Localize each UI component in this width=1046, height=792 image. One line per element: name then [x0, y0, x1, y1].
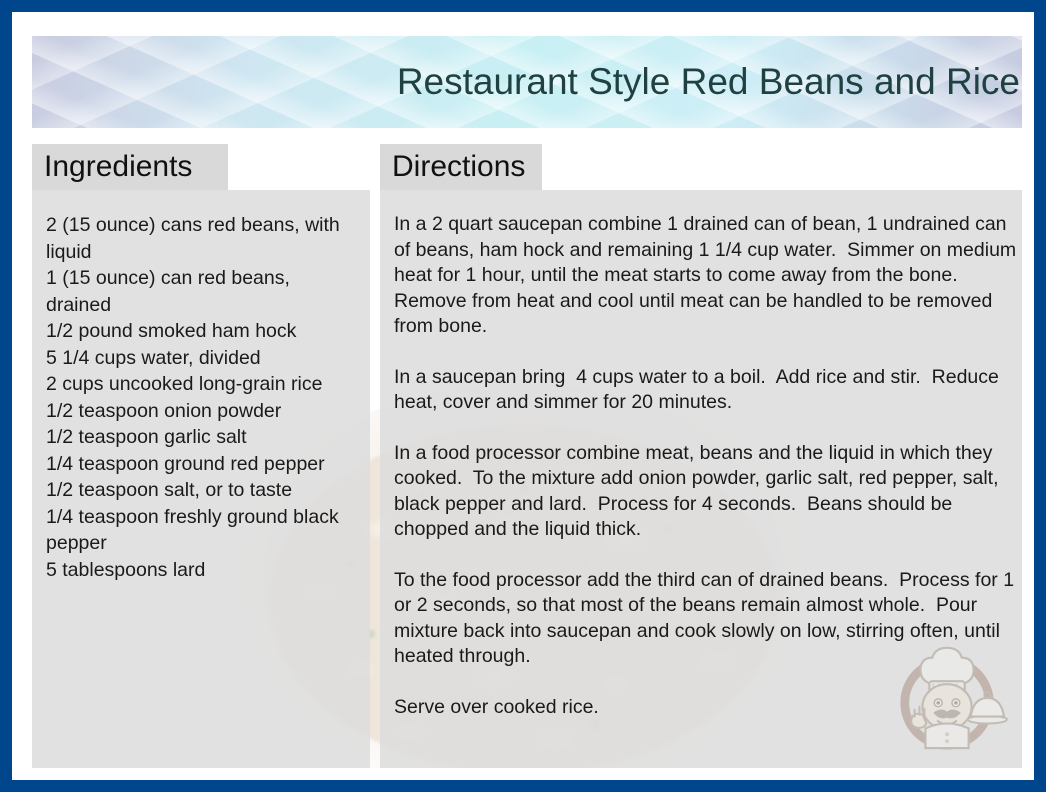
recipe-card: Restaurant Style Red Beans and Rice Ingr… — [0, 0, 1046, 792]
title-banner: Restaurant Style Red Beans and Rice — [32, 36, 1022, 128]
list-item: 1/2 teaspoon onion powder — [46, 398, 356, 425]
list-item: 1/4 teaspoon ground red pepper — [46, 451, 356, 478]
direction-step: In a saucepan bring 4 cups water to a bo… — [394, 365, 1022, 416]
directions-panel: In a 2 quart saucepan combine 1 drained … — [380, 190, 1022, 768]
list-item: 2 cups uncooked long-grain rice — [46, 371, 356, 398]
direction-step: To the food processor add the third can … — [394, 568, 1022, 670]
list-item: 5 1/4 cups water, divided — [46, 345, 356, 372]
direction-step: In a food processor combine meat, beans … — [394, 441, 1022, 543]
page-title: Restaurant Style Red Beans and Rice — [397, 61, 1020, 103]
direction-step: In a 2 quart saucepan combine 1 drained … — [394, 212, 1022, 340]
ingredients-list: 2 (15 ounce) cans red beans, with liquid… — [46, 212, 356, 583]
list-item: 5 tablespoons lard — [46, 557, 356, 584]
list-item: 1/2 teaspoon garlic salt — [46, 424, 356, 451]
ingredients-section-header: Ingredients — [32, 144, 228, 190]
list-item: 1/2 teaspoon salt, or to taste — [46, 477, 356, 504]
list-item: 1/2 pound smoked ham hock — [46, 318, 356, 345]
list-item: 1/4 teaspoon freshly ground black pepper — [46, 504, 356, 557]
directions-header-label: Directions — [392, 152, 525, 182]
directions-section-header: Directions — [380, 144, 542, 190]
list-item: 2 (15 ounce) cans red beans, with liquid — [46, 212, 356, 265]
card-inner: Restaurant Style Red Beans and Rice Ingr… — [24, 24, 1022, 768]
direction-step: Serve over cooked rice. — [394, 695, 1022, 721]
ingredients-header-label: Ingredients — [44, 152, 192, 182]
list-item: 1 (15 ounce) can red beans, drained — [46, 265, 356, 318]
ingredients-panel: 2 (15 ounce) cans red beans, with liquid… — [32, 190, 370, 768]
